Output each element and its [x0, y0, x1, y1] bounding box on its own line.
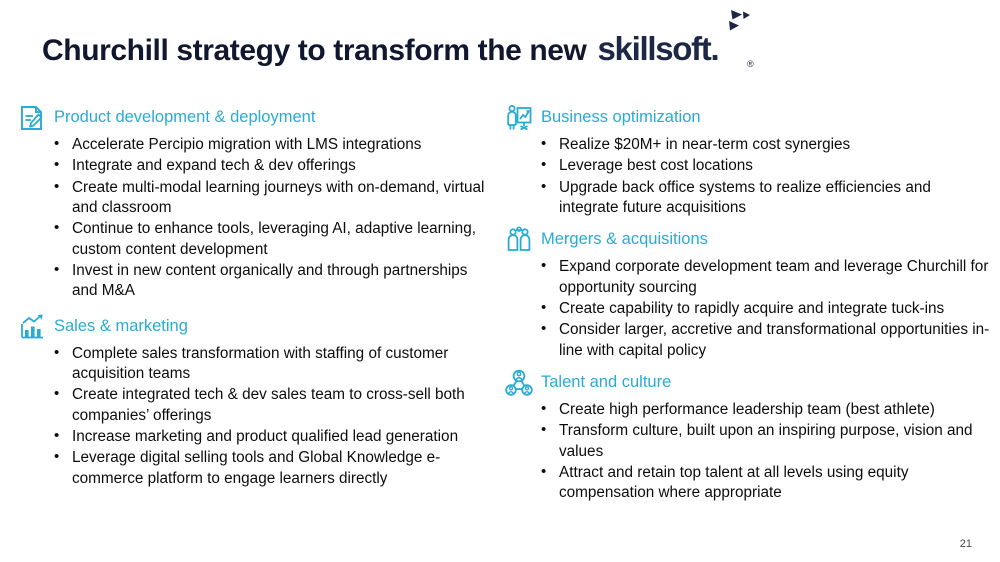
- slide-title-row: Churchill strategy to transform the new …: [42, 30, 720, 68]
- section-heading: Business optimization: [541, 108, 701, 128]
- list-item: Create high performance leadership team …: [541, 400, 992, 420]
- section-heading: Sales & marketing: [54, 317, 188, 337]
- list-item: Increase marketing and product qualified…: [54, 427, 488, 447]
- section-header: Mergers & acquisitions: [505, 226, 992, 254]
- section-product-development: Product development & deployment Acceler…: [18, 104, 488, 302]
- logo-period: .: [711, 30, 720, 68]
- bullet-list: Expand corporate development team and le…: [505, 257, 992, 361]
- logo-registered-mark: ®: [747, 59, 754, 69]
- section-header: Talent and culture: [505, 369, 992, 397]
- section-heading: Product development & deployment: [54, 108, 315, 128]
- section-header: Product development & deployment: [18, 104, 488, 132]
- list-item: Attract and retain top talent at all lev…: [541, 463, 992, 504]
- logo-wordmark: skillsoft: [597, 30, 710, 68]
- team-network-icon: [505, 369, 533, 397]
- list-item: Integrate and expand tech & dev offering…: [54, 156, 488, 176]
- bullet-list: Complete sales transformation with staff…: [18, 344, 488, 489]
- list-item: Create integrated tech & dev sales team …: [54, 385, 488, 426]
- section-heading: Mergers & acquisitions: [541, 230, 708, 250]
- list-item: Leverage digital selling tools and Globa…: [54, 448, 488, 489]
- page-number: 21: [960, 538, 972, 550]
- document-pencil-icon: [18, 104, 46, 132]
- list-item: Leverage best cost locations: [541, 156, 992, 176]
- presenter-board-icon: [505, 104, 533, 132]
- bullet-list: Create high performance leadership team …: [505, 400, 992, 504]
- list-item: Upgrade back office systems to realize e…: [541, 178, 992, 219]
- two-people-icon: [505, 226, 533, 254]
- section-header: Business optimization: [505, 104, 992, 132]
- section-business-optimization: Business optimization Realize $20M+ in n…: [505, 104, 992, 218]
- list-item: Continue to enhance tools, leveraging AI…: [54, 219, 488, 260]
- list-item: Create multi-modal learning journeys wit…: [54, 178, 488, 219]
- list-item: Transform culture, built upon an inspiri…: [541, 421, 992, 462]
- list-item: Invest in new content organically and th…: [54, 261, 488, 302]
- section-header: Sales & marketing: [18, 313, 488, 341]
- list-item: Complete sales transformation with staff…: [54, 344, 488, 385]
- slide: Churchill strategy to transform the new …: [0, 0, 1000, 562]
- section-mergers-acquisitions: Mergers & acquisitions Expand corporate …: [505, 226, 992, 361]
- bullet-list: Realize $20M+ in near-term cost synergie…: [505, 135, 992, 218]
- list-item: Consider larger, accretive and transform…: [541, 320, 992, 361]
- bullet-list: Accelerate Percipio migration with LMS i…: [18, 135, 488, 302]
- list-item: Accelerate Percipio migration with LMS i…: [54, 135, 488, 155]
- left-column: Product development & deployment Acceler…: [18, 104, 488, 491]
- list-item: Create capability to rapidly acquire and…: [541, 299, 992, 319]
- section-sales-marketing: Sales & marketing Complete sales transfo…: [18, 313, 488, 489]
- section-talent-culture: Talent and culture Create high performan…: [505, 369, 992, 504]
- list-item: Realize $20M+ in near-term cost synergie…: [541, 135, 992, 155]
- section-heading: Talent and culture: [541, 373, 671, 393]
- triple-play-arrow-icon: [720, 10, 750, 36]
- skillsoft-logo: skillsoft . ®: [597, 30, 719, 68]
- page-title: Churchill strategy to transform the new: [42, 34, 586, 68]
- bar-chart-growth-icon: [18, 313, 46, 341]
- list-item: Expand corporate development team and le…: [541, 257, 992, 298]
- right-column: Business optimization Realize $20M+ in n…: [505, 104, 992, 506]
